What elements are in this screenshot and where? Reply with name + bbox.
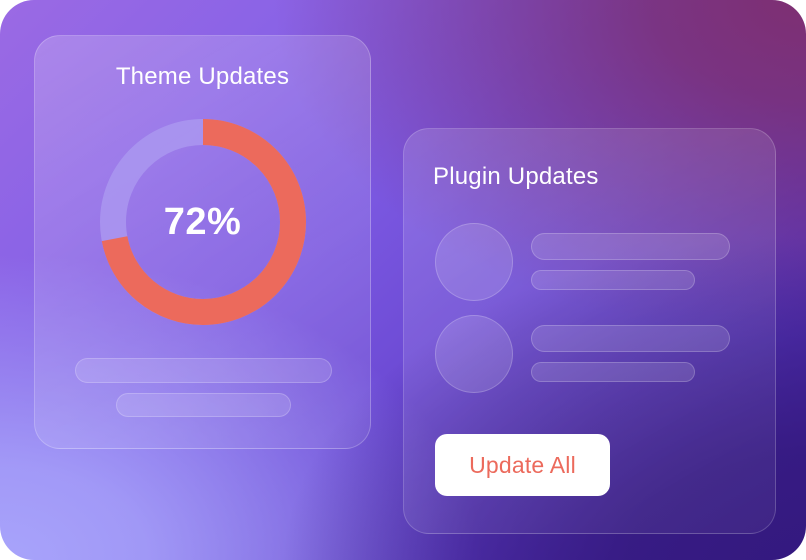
plugin-meta-placeholder (531, 362, 695, 382)
plugin-list-item[interactable] (435, 315, 750, 395)
promo-illustration: Theme Updates 72% Plugin Updates Update … (0, 0, 806, 560)
plugin-name-placeholder (531, 325, 730, 352)
theme-updates-title: Theme Updates (35, 63, 370, 91)
plugin-name-placeholder (531, 233, 730, 260)
plugin-avatar (435, 223, 513, 301)
theme-progress-percent-label: 72% (95, 114, 311, 330)
theme-updates-card: Theme Updates 72% (34, 35, 371, 449)
theme-placeholder-bar-2 (116, 393, 291, 417)
update-all-button[interactable]: Update All (435, 434, 610, 496)
plugin-list-item[interactable] (435, 223, 750, 303)
theme-progress-donut-chart: 72% (95, 114, 311, 330)
plugin-avatar (435, 315, 513, 393)
plugin-meta-placeholder (531, 270, 695, 290)
theme-placeholder-bar-1 (75, 358, 332, 383)
plugin-updates-card: Plugin Updates Update All (403, 128, 776, 534)
plugin-updates-title: Plugin Updates (433, 163, 599, 191)
